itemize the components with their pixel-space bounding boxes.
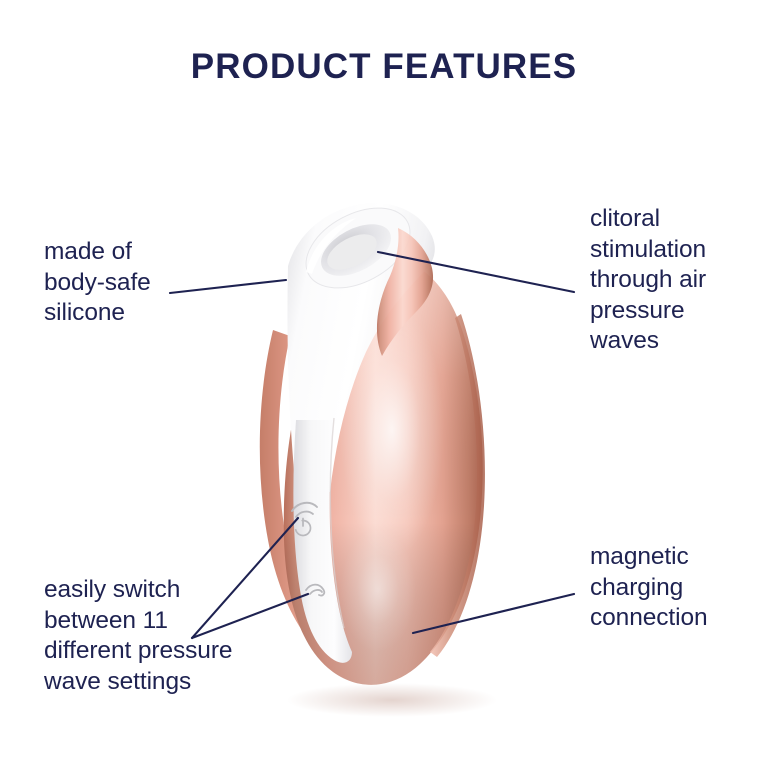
callout-pressure-wave-settings: easily switch between 11 different press…	[44, 575, 232, 697]
callout-made-of-body-safe-silicone: made of body-safe silicone	[44, 237, 151, 329]
product-shadow	[287, 683, 497, 717]
product-features-infographic: PRODUCT FEATURES	[0, 0, 768, 768]
callout-magnetic-charging-connection: magnetic charging connection	[590, 542, 708, 634]
callout-clitoral-stimulation: clitoral stimulation through air pressur…	[590, 204, 706, 357]
